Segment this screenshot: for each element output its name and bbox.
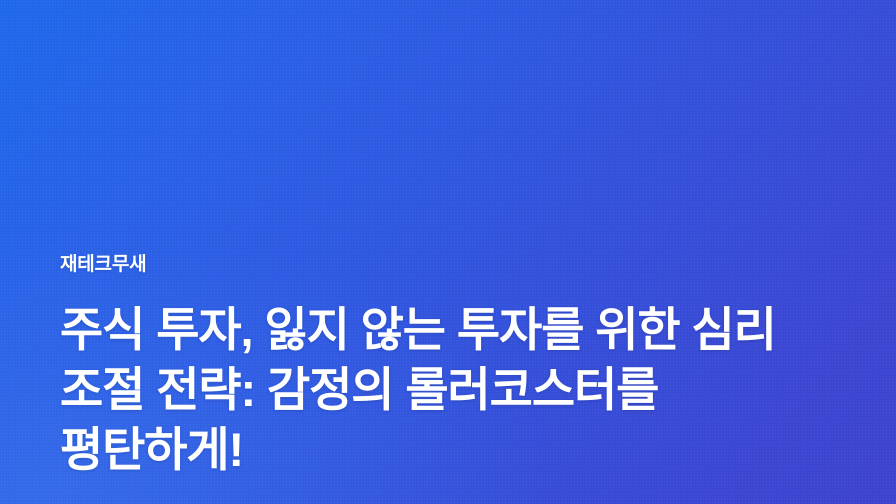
blog-thumbnail-card: 재테크무새 주식 투자, 잃지 않는 투자를 위한 심리 조절 전략: 감정의 … [0,0,896,504]
category-label: 재테크무새 [60,252,836,278]
page-title: 주식 투자, 잃지 않는 투자를 위한 심리 조절 전략: 감정의 롤러코스터를… [60,300,832,480]
card-text-block: 재테크무새 주식 투자, 잃지 않는 투자를 위한 심리 조절 전략: 감정의 … [60,252,836,480]
